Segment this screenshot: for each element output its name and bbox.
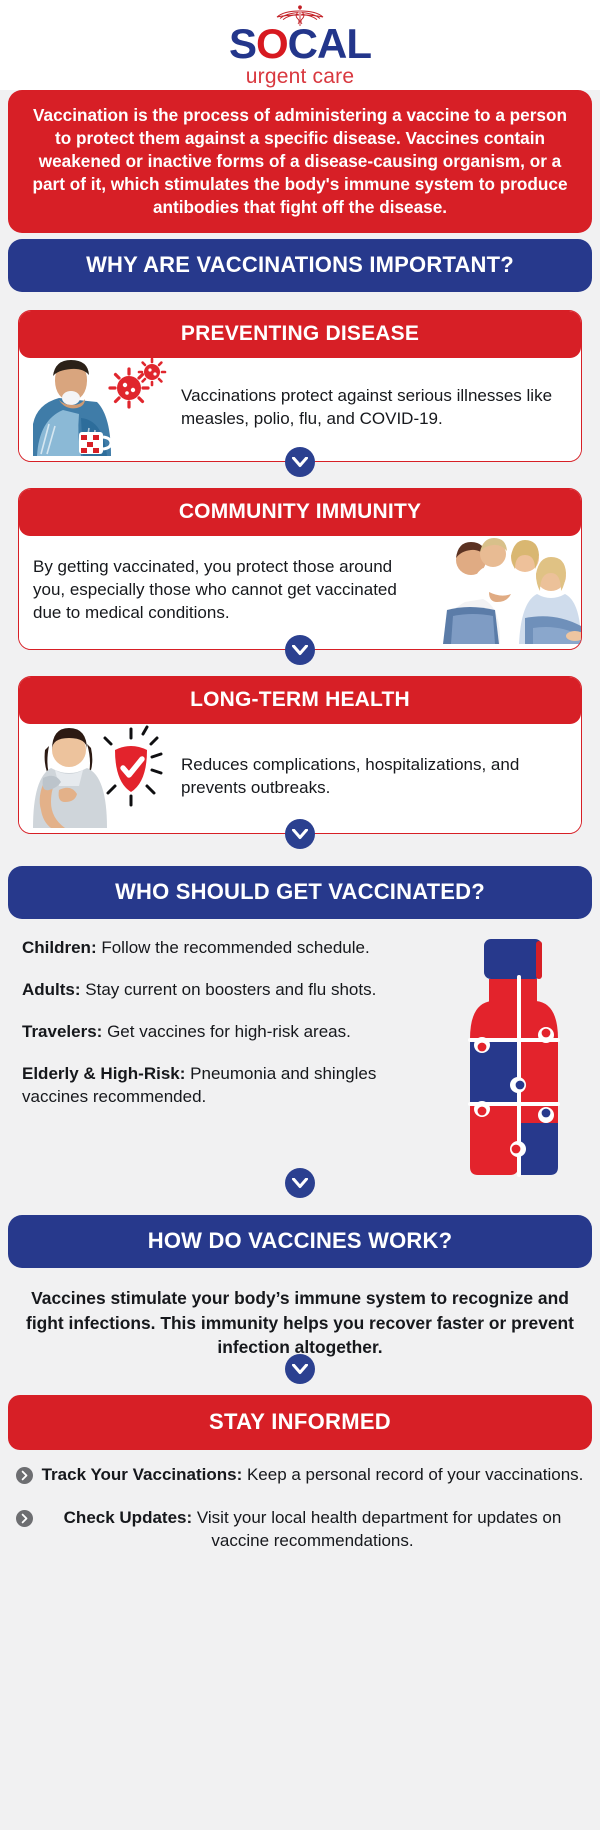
card-text: Reduces complications, hospitalizations,… xyxy=(167,744,581,814)
who-item-text: Stay current on boosters and flu shots. xyxy=(81,980,377,999)
sick-man-photo-with-virus-icons xyxy=(19,358,167,461)
who-item-label: Children: xyxy=(22,938,97,957)
card-title: COMMUNITY IMMUNITY xyxy=(19,489,581,536)
benefit-card-long-term-health: LONG-TERM HEALTH xyxy=(18,676,582,834)
who-list: Children: Follow the recommended schedul… xyxy=(22,935,444,1177)
who-should-get-vaccinated-body: Children: Follow the recommended schedul… xyxy=(0,919,600,1183)
woman-photo-with-shield-check-icon xyxy=(19,724,167,833)
informed-item-label: Check Updates: xyxy=(64,1508,192,1527)
list-item: Check Updates: Visit your local health d… xyxy=(16,1507,584,1553)
section-heading-who: WHO SHOULD GET VACCINATED? xyxy=(8,866,592,919)
informed-item-label: Track Your Vaccinations: xyxy=(42,1465,243,1484)
section-heading-stay-informed: STAY INFORMED xyxy=(8,1395,592,1450)
brand-header: SOCAL urgent care xyxy=(0,0,600,90)
who-item-text: Follow the recommended schedule. xyxy=(97,938,370,957)
list-item: Children: Follow the recommended schedul… xyxy=(22,937,444,960)
informed-item-detail: Keep a personal record of your vaccinati… xyxy=(242,1465,583,1484)
family-photo xyxy=(433,536,581,649)
vaccine-vial-puzzle-illustration xyxy=(450,935,582,1177)
informed-item-text: Track Your Vaccinations: Keep a personal… xyxy=(41,1464,584,1487)
who-item-label: Elderly & High-Risk: xyxy=(22,1064,185,1083)
stay-informed-list: Track Your Vaccinations: Keep a personal… xyxy=(0,1450,600,1583)
list-item: Track Your Vaccinations: Keep a personal… xyxy=(16,1464,584,1487)
section-heading-how: HOW DO VACCINES WORK? xyxy=(8,1215,592,1268)
who-item-label: Adults: xyxy=(22,980,81,999)
infographic-page: SOCAL urgent care Vaccination is the pro… xyxy=(0,0,600,1830)
who-item-text: Get vaccines for high-risk areas. xyxy=(102,1022,350,1041)
card-title: PREVENTING DISEASE xyxy=(19,311,581,358)
card-text: By getting vaccinated, you protect those… xyxy=(19,546,433,639)
who-item-label: Travelers: xyxy=(22,1022,102,1041)
list-item: Adults: Stay current on boosters and flu… xyxy=(22,979,444,1002)
logo-tagline: urgent care xyxy=(246,65,354,89)
intro-banner: Vaccination is the process of administer… xyxy=(8,90,592,233)
chevron-right-circle-icon xyxy=(16,1467,33,1484)
logo-text-part2: CAL xyxy=(288,24,371,64)
logo-wordmark: SOCAL xyxy=(229,24,371,64)
list-item: Travelers: Get vaccines for high-risk ar… xyxy=(22,1021,444,1044)
logo-text-part1: S xyxy=(229,24,256,64)
section-heading-why: WHY ARE VACCINATIONS IMPORTANT? xyxy=(8,239,592,292)
informed-item-detail: Visit your local health department for u… xyxy=(192,1508,561,1550)
list-item: Elderly & High-Risk: Pneumonia and shing… xyxy=(22,1063,444,1109)
card-text: Vaccinations protect against serious ill… xyxy=(167,375,581,445)
benefit-card-community-immunity: COMMUNITY IMMUNITY xyxy=(18,488,582,650)
card-title: LONG-TERM HEALTH xyxy=(19,677,581,724)
logo-text-o: O xyxy=(256,24,288,64)
informed-item-text: Check Updates: Visit your local health d… xyxy=(41,1507,584,1553)
chevron-right-circle-icon xyxy=(16,1510,33,1527)
benefit-card-preventing-disease: PREVENTING DISEASE xyxy=(18,310,582,462)
